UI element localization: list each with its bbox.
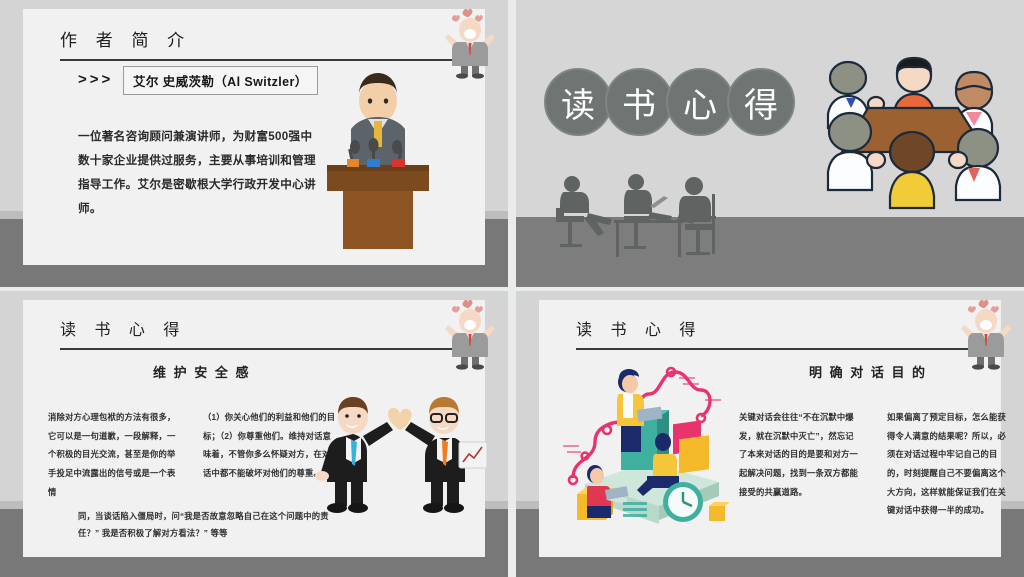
cover-char-circle: 书 <box>605 68 673 136</box>
section-title: 明 确 对 话 目 的 <box>809 362 927 381</box>
two-businessmen-high-five-illustration <box>313 390 488 520</box>
speaker-at-podium-illustration <box>313 61 443 251</box>
office-workers-silhouette <box>554 172 754 272</box>
chevron-marker: >>> <box>78 71 113 88</box>
body-column-1: 关键对话会往往“不在沉默中爆发，就在沉默中灭亡”，然忘记了本来对话的目的是要和对… <box>739 408 861 501</box>
slide-clarify-purpose[interactable]: 读 书 心 得 明 确 对 话 目 的 关键对话会往往“不在沉默中爆发，就在沉默… <box>516 291 1024 577</box>
page-title: 读 书 心 得 <box>576 316 702 340</box>
body-footer-text: 同，当谈话陷入僵局时，问“我是否故意忽略自己在这个问题中的责任？” 我是否积极了… <box>78 508 343 541</box>
cover-char-circle: 得 <box>727 68 795 136</box>
author-bio-text: 一位著名咨询顾问兼演讲师，为财富500强中数十家企业提供过服务，主要从事培训和管… <box>78 125 320 221</box>
cheering-businessman-icon <box>442 295 498 369</box>
cover-char-circle: 读 <box>544 68 612 136</box>
content-card: 读 书 心 得 维 护 安 全 感 消除对方心理包袱的方法有很多，它可以是一句道… <box>23 300 485 557</box>
cover-char-circle: 心 <box>666 68 734 136</box>
content-card: 作 者 简 介 >>> 艾尔 史威茨勒（Al Switzler） 一位著名咨询顾… <box>23 9 485 265</box>
section-title: 维 护 安 全 感 <box>153 362 250 381</box>
title-underline <box>576 348 981 350</box>
content-card: 读 书 心 得 明 确 对 话 目 的 关键对话会往往“不在沉默中爆发，就在沉默… <box>539 300 1001 557</box>
cheering-businessman-icon <box>958 295 1014 369</box>
slide-maintain-security[interactable]: 读 书 心 得 维 护 安 全 感 消除对方心理包袱的方法有很多，它可以是一句道… <box>0 291 508 577</box>
slide-cover[interactable]: 读 书 心 得 <box>516 0 1024 287</box>
meeting-table-people-illustration <box>806 56 1020 216</box>
title-underline <box>60 348 465 350</box>
page-title: 读 书 心 得 <box>60 316 186 340</box>
author-name-box: 艾尔 史威茨勒（Al Switzler） <box>123 66 318 95</box>
body-column-2: 如果偏离了预定目标，怎么能获得令人满意的结果呢？所以，必须在对话过程中牢记自己的… <box>887 408 1009 520</box>
body-column-1: 消除对方心理包袱的方法有很多，它可以是一句道歉，一段解释，一个积极的目光交流，甚… <box>48 408 183 501</box>
cheering-businessman-icon <box>442 4 498 78</box>
cover-title: 读 书 心 得 <box>544 68 788 136</box>
slide-grid: 作 者 简 介 >>> 艾尔 史威茨勒（Al Switzler） 一位著名咨询顾… <box>0 0 1024 577</box>
business-growth-chart-people-illustration <box>561 360 731 530</box>
page-title: 作 者 简 介 <box>60 26 191 51</box>
slide-author-profile[interactable]: 作 者 简 介 >>> 艾尔 史威茨勒（Al Switzler） 一位著名咨询顾… <box>0 0 508 287</box>
